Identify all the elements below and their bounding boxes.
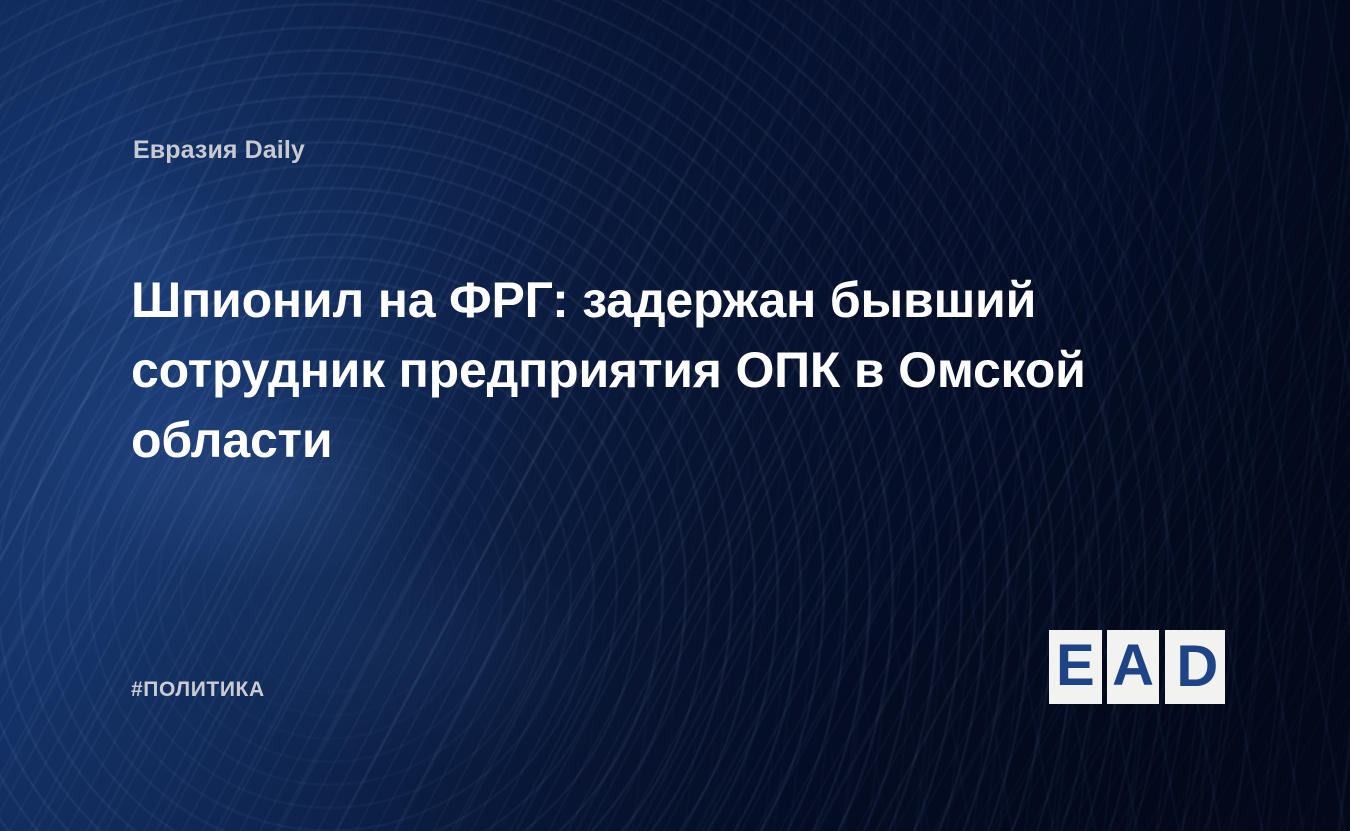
logo-letter-a: А — [1112, 637, 1154, 695]
logo-letter-d-upper: D — [1167, 630, 1225, 667]
card-content: Евразия Daily Шпионил на ФРГ: задержан б… — [0, 0, 1350, 831]
brand-name: Евразия Daily — [133, 136, 305, 165]
logo-tile-d: D D — [1165, 630, 1225, 704]
logo-letter-d-lower: D — [1167, 667, 1225, 704]
logo-tile-e: Е — [1049, 630, 1102, 704]
logo-d-lower-half: D — [1165, 667, 1225, 704]
logo-tile-a: А — [1107, 630, 1160, 704]
logo-d-upper-half: D — [1165, 630, 1225, 667]
news-card: Евразия Daily Шпионил на ФРГ: задержан б… — [0, 0, 1350, 831]
headline: Шпионил на ФРГ: задержан бывший сотрудни… — [131, 265, 1201, 475]
ead-logo: Е А D D — [1049, 630, 1225, 704]
hashtag-politics: #ПОЛИТИКА — [131, 678, 265, 702]
logo-letter-e: Е — [1056, 637, 1095, 695]
